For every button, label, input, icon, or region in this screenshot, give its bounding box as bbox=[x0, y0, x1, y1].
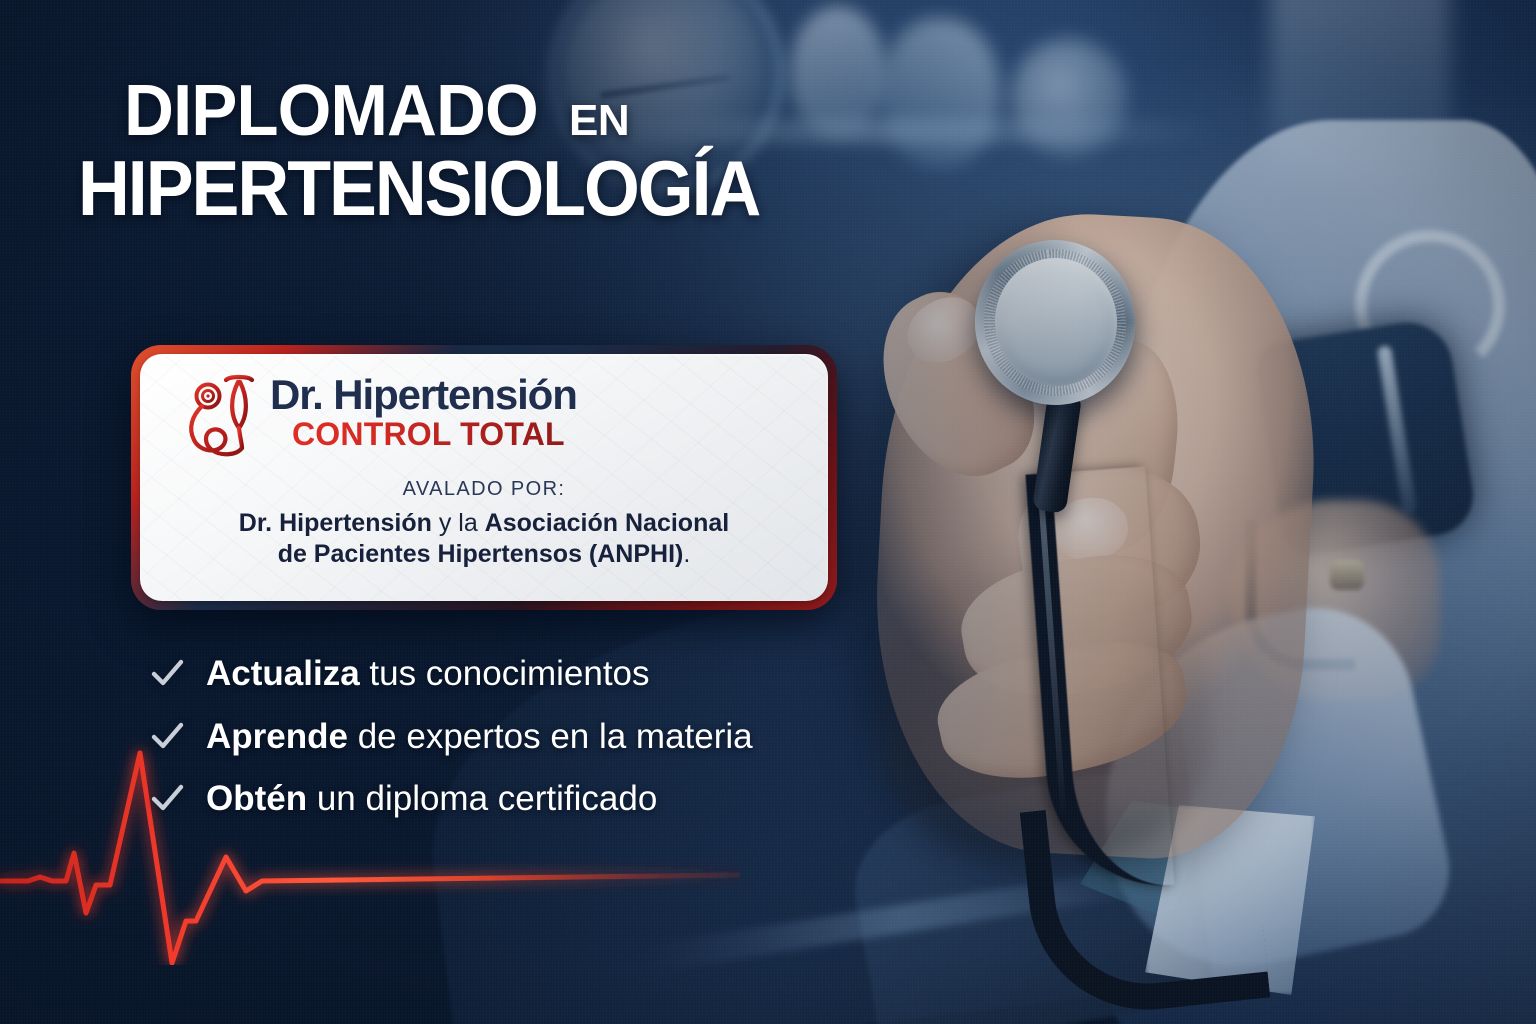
brand-tagline: CONTROL TOTAL bbox=[270, 418, 577, 452]
benefit-text: Actualiza tus conocimientos bbox=[206, 655, 650, 694]
stethoscope-icon bbox=[182, 372, 264, 464]
brand-name: Dr. Hipertensión bbox=[270, 374, 577, 416]
benefit-text: Obtén un diploma certificado bbox=[206, 780, 657, 819]
benefit-rest: un diploma certificado bbox=[307, 779, 657, 818]
card-brand-row: Dr. Hipertensión CONTROL TOTAL bbox=[140, 354, 828, 464]
benefit-rest: de expertos en la materia bbox=[348, 717, 753, 756]
card-surface: Dr. Hipertensión CONTROL TOTAL AVALADO P… bbox=[140, 354, 828, 601]
benefit-rest: tus conocimientos bbox=[360, 654, 650, 693]
title-word-diplomado: DIPLOMADO bbox=[124, 78, 538, 146]
endorsement-period: . bbox=[683, 540, 690, 568]
brand-block: Dr. Hipertensión CONTROL TOTAL bbox=[270, 370, 577, 452]
page-title: DIPLOMADO EN HIPERTENSIOLOGÍA bbox=[124, 78, 1024, 225]
benefit-text: Aprende de expertos en la materia bbox=[206, 718, 753, 757]
endorsement-org-1: Dr. Hipertensión bbox=[239, 509, 432, 537]
endorsement-org-2-cont: de Pacientes Hipertensos (ANPHI) bbox=[278, 540, 684, 568]
list-item: Aprende de expertos en la materia bbox=[150, 718, 910, 757]
title-word-en: EN bbox=[569, 100, 629, 141]
promo-banner: DIPLOMADO EN HIPERTENSIOLOGÍA bbox=[0, 0, 1536, 1024]
endorsement-card: Dr. Hipertensión CONTROL TOTAL AVALADO P… bbox=[131, 345, 837, 610]
benefit-keyword: Actualiza bbox=[206, 654, 360, 693]
endorsement-org-2: Asociación Nacional bbox=[485, 509, 730, 537]
list-item: Obtén un diploma certificado bbox=[150, 780, 910, 819]
endorsement-label: AVALADO POR: bbox=[140, 478, 828, 501]
endorsement-connector: y la bbox=[432, 509, 485, 537]
title-line-1: DIPLOMADO EN bbox=[124, 78, 1024, 146]
check-icon bbox=[150, 720, 184, 754]
benefit-keyword: Aprende bbox=[206, 717, 348, 756]
check-icon bbox=[150, 657, 184, 691]
list-item: Actualiza tus conocimientos bbox=[150, 655, 910, 694]
benefits-list: Actualiza tus conocimientos Aprende de e… bbox=[150, 655, 910, 843]
check-icon bbox=[150, 782, 184, 816]
endorsement-text: Dr. Hipertensión y la Asociación Naciona… bbox=[140, 508, 828, 570]
benefit-keyword: Obtén bbox=[206, 779, 307, 818]
title-line-2: HIPERTENSIOLOGÍA bbox=[78, 152, 948, 225]
